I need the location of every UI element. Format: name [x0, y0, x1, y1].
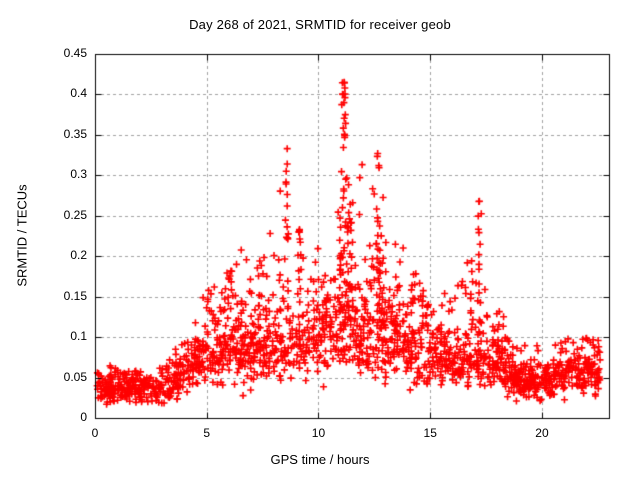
x-tick-label: 10: [298, 426, 338, 440]
x-tick-label: 5: [187, 426, 227, 440]
x-axis-label: GPS time / hours: [0, 452, 640, 467]
y-tick-label: 0.2: [41, 248, 87, 262]
plot-canvas: [0, 0, 640, 480]
y-tick-label: 0.3: [41, 167, 87, 181]
y-tick-label: 0.15: [41, 289, 87, 303]
scatter-plot-figure: Day 268 of 2021, SRMTID for receiver geo…: [0, 0, 640, 480]
x-tick-label: 15: [410, 426, 450, 440]
y-tick-label: 0.25: [41, 208, 87, 222]
y-tick-label: 0.05: [41, 370, 87, 384]
y-tick-label: 0.4: [41, 86, 87, 100]
y-axis-label: SRMTID / TECUs: [15, 126, 30, 346]
y-tick-label: 0.35: [41, 127, 87, 141]
y-tick-label: 0.1: [41, 329, 87, 343]
y-tick-label: 0.45: [41, 46, 87, 60]
y-tick-label: 0: [41, 410, 87, 424]
x-tick-label: 0: [75, 426, 115, 440]
x-tick-label: 20: [522, 426, 562, 440]
